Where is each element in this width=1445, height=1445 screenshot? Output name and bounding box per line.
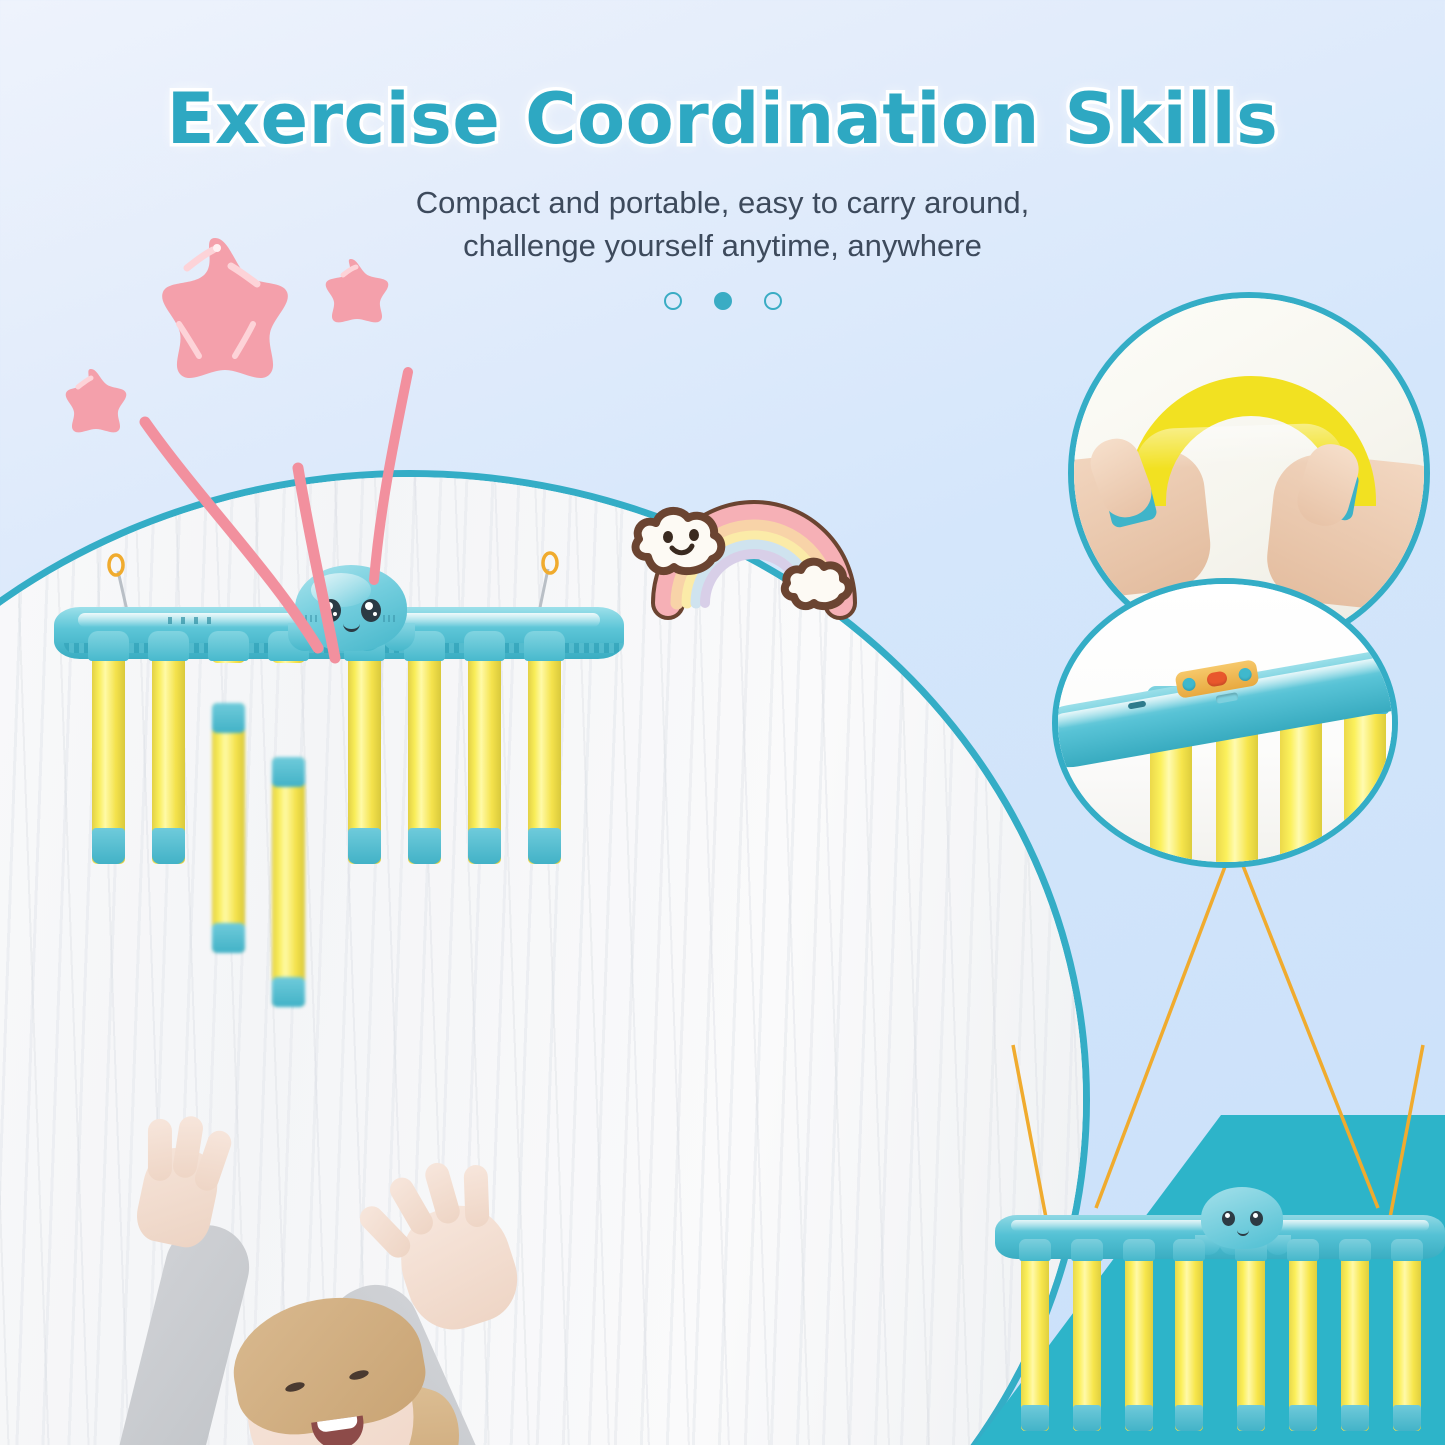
stick-cap: [1019, 1239, 1051, 1261]
carousel-dot-3[interactable]: [764, 292, 782, 310]
girl-finger: [148, 1119, 172, 1181]
product-stick: [152, 649, 185, 864]
page-subtitle: Compact and portable, easy to carry arou…: [0, 182, 1445, 268]
falling-stick: [272, 757, 305, 1007]
octopus-mouth: [1237, 1230, 1249, 1236]
stick-tip: [272, 977, 305, 1007]
inset-control-panel[interactable]: [1052, 578, 1398, 868]
product-bottom-octopus-head: [1201, 1187, 1283, 1249]
star-motion-streaks: [40, 250, 560, 670]
product-stick: [1344, 702, 1386, 868]
product-stick: [348, 649, 381, 864]
carousel-dot-2[interactable]: [714, 292, 732, 310]
page-title: Exercise Coordination Skills: [0, 78, 1445, 160]
product-stick: [1393, 1251, 1421, 1431]
header: Exercise Coordination Skills Compact and…: [0, 0, 1445, 310]
stick-tip: [212, 923, 245, 953]
product-stick: [1021, 1251, 1049, 1431]
octopus-eye-right: [1250, 1211, 1263, 1226]
stick-tip: [408, 828, 441, 864]
control-button-right[interactable]: [1238, 667, 1253, 682]
stick-cap: [1339, 1239, 1371, 1261]
control-button-center[interactable]: [1206, 670, 1228, 687]
stick-tip: [92, 828, 125, 864]
rainbow-cloud-decoration: [630, 485, 880, 625]
cloud-eye-right: [689, 529, 699, 541]
stick-tip: [272, 757, 305, 787]
stick-tip: [212, 703, 245, 733]
stick-cap: [1123, 1239, 1155, 1261]
cloud-eye-left: [663, 531, 673, 543]
subtitle-line-1: Compact and portable, easy to carry arou…: [0, 182, 1445, 225]
subtitle-line-2: challenge yourself anytime, anywhere: [0, 225, 1445, 268]
cloud-left-smiling-icon: [636, 511, 722, 571]
product-stick: [1237, 1251, 1265, 1431]
carousel-dot-1[interactable]: [664, 292, 682, 310]
stick-tip: [468, 828, 501, 864]
product-stick: [1341, 1251, 1369, 1431]
stick-tip: [528, 828, 561, 864]
stick-tip: [1393, 1405, 1421, 1431]
stick-tip: [1175, 1405, 1203, 1431]
stick-cap: [1287, 1239, 1319, 1261]
stick-tip: [1289, 1405, 1317, 1431]
girl-finger: [463, 1165, 489, 1228]
stick-tip: [1021, 1405, 1049, 1431]
stick-cap: [1173, 1239, 1205, 1261]
carousel-dots[interactable]: [0, 292, 1445, 310]
star-small-left-icon: [55, 365, 127, 435]
stick-tip: [1237, 1405, 1265, 1431]
stick-tip: [1073, 1405, 1101, 1431]
stick-tip: [1125, 1405, 1153, 1431]
stick-tip: [348, 828, 381, 864]
product-stick: [468, 649, 501, 864]
product-stick: [1125, 1251, 1153, 1431]
girl-left-arm: [104, 1216, 258, 1445]
product-stick: [408, 649, 441, 864]
product-bottom-view: [985, 1185, 1445, 1445]
girl-reaching-up: [117, 1237, 547, 1445]
control-button-left[interactable]: [1181, 676, 1196, 691]
page-root: Exercise Coordination Skills Compact and…: [0, 0, 1445, 1445]
stick-cap: [1391, 1239, 1423, 1261]
stick-tip: [152, 828, 185, 864]
falling-stick: [212, 703, 245, 953]
stick-cap: [1071, 1239, 1103, 1261]
product-stick: [1289, 1251, 1317, 1431]
product-stick: [1175, 1251, 1203, 1431]
stick-tip: [1341, 1405, 1369, 1431]
product-stick: [92, 649, 125, 864]
octopus-eye-left: [1222, 1211, 1235, 1226]
product-stick: [1073, 1251, 1101, 1431]
product-stick: [528, 649, 561, 864]
cloud-right-icon: [785, 562, 849, 606]
